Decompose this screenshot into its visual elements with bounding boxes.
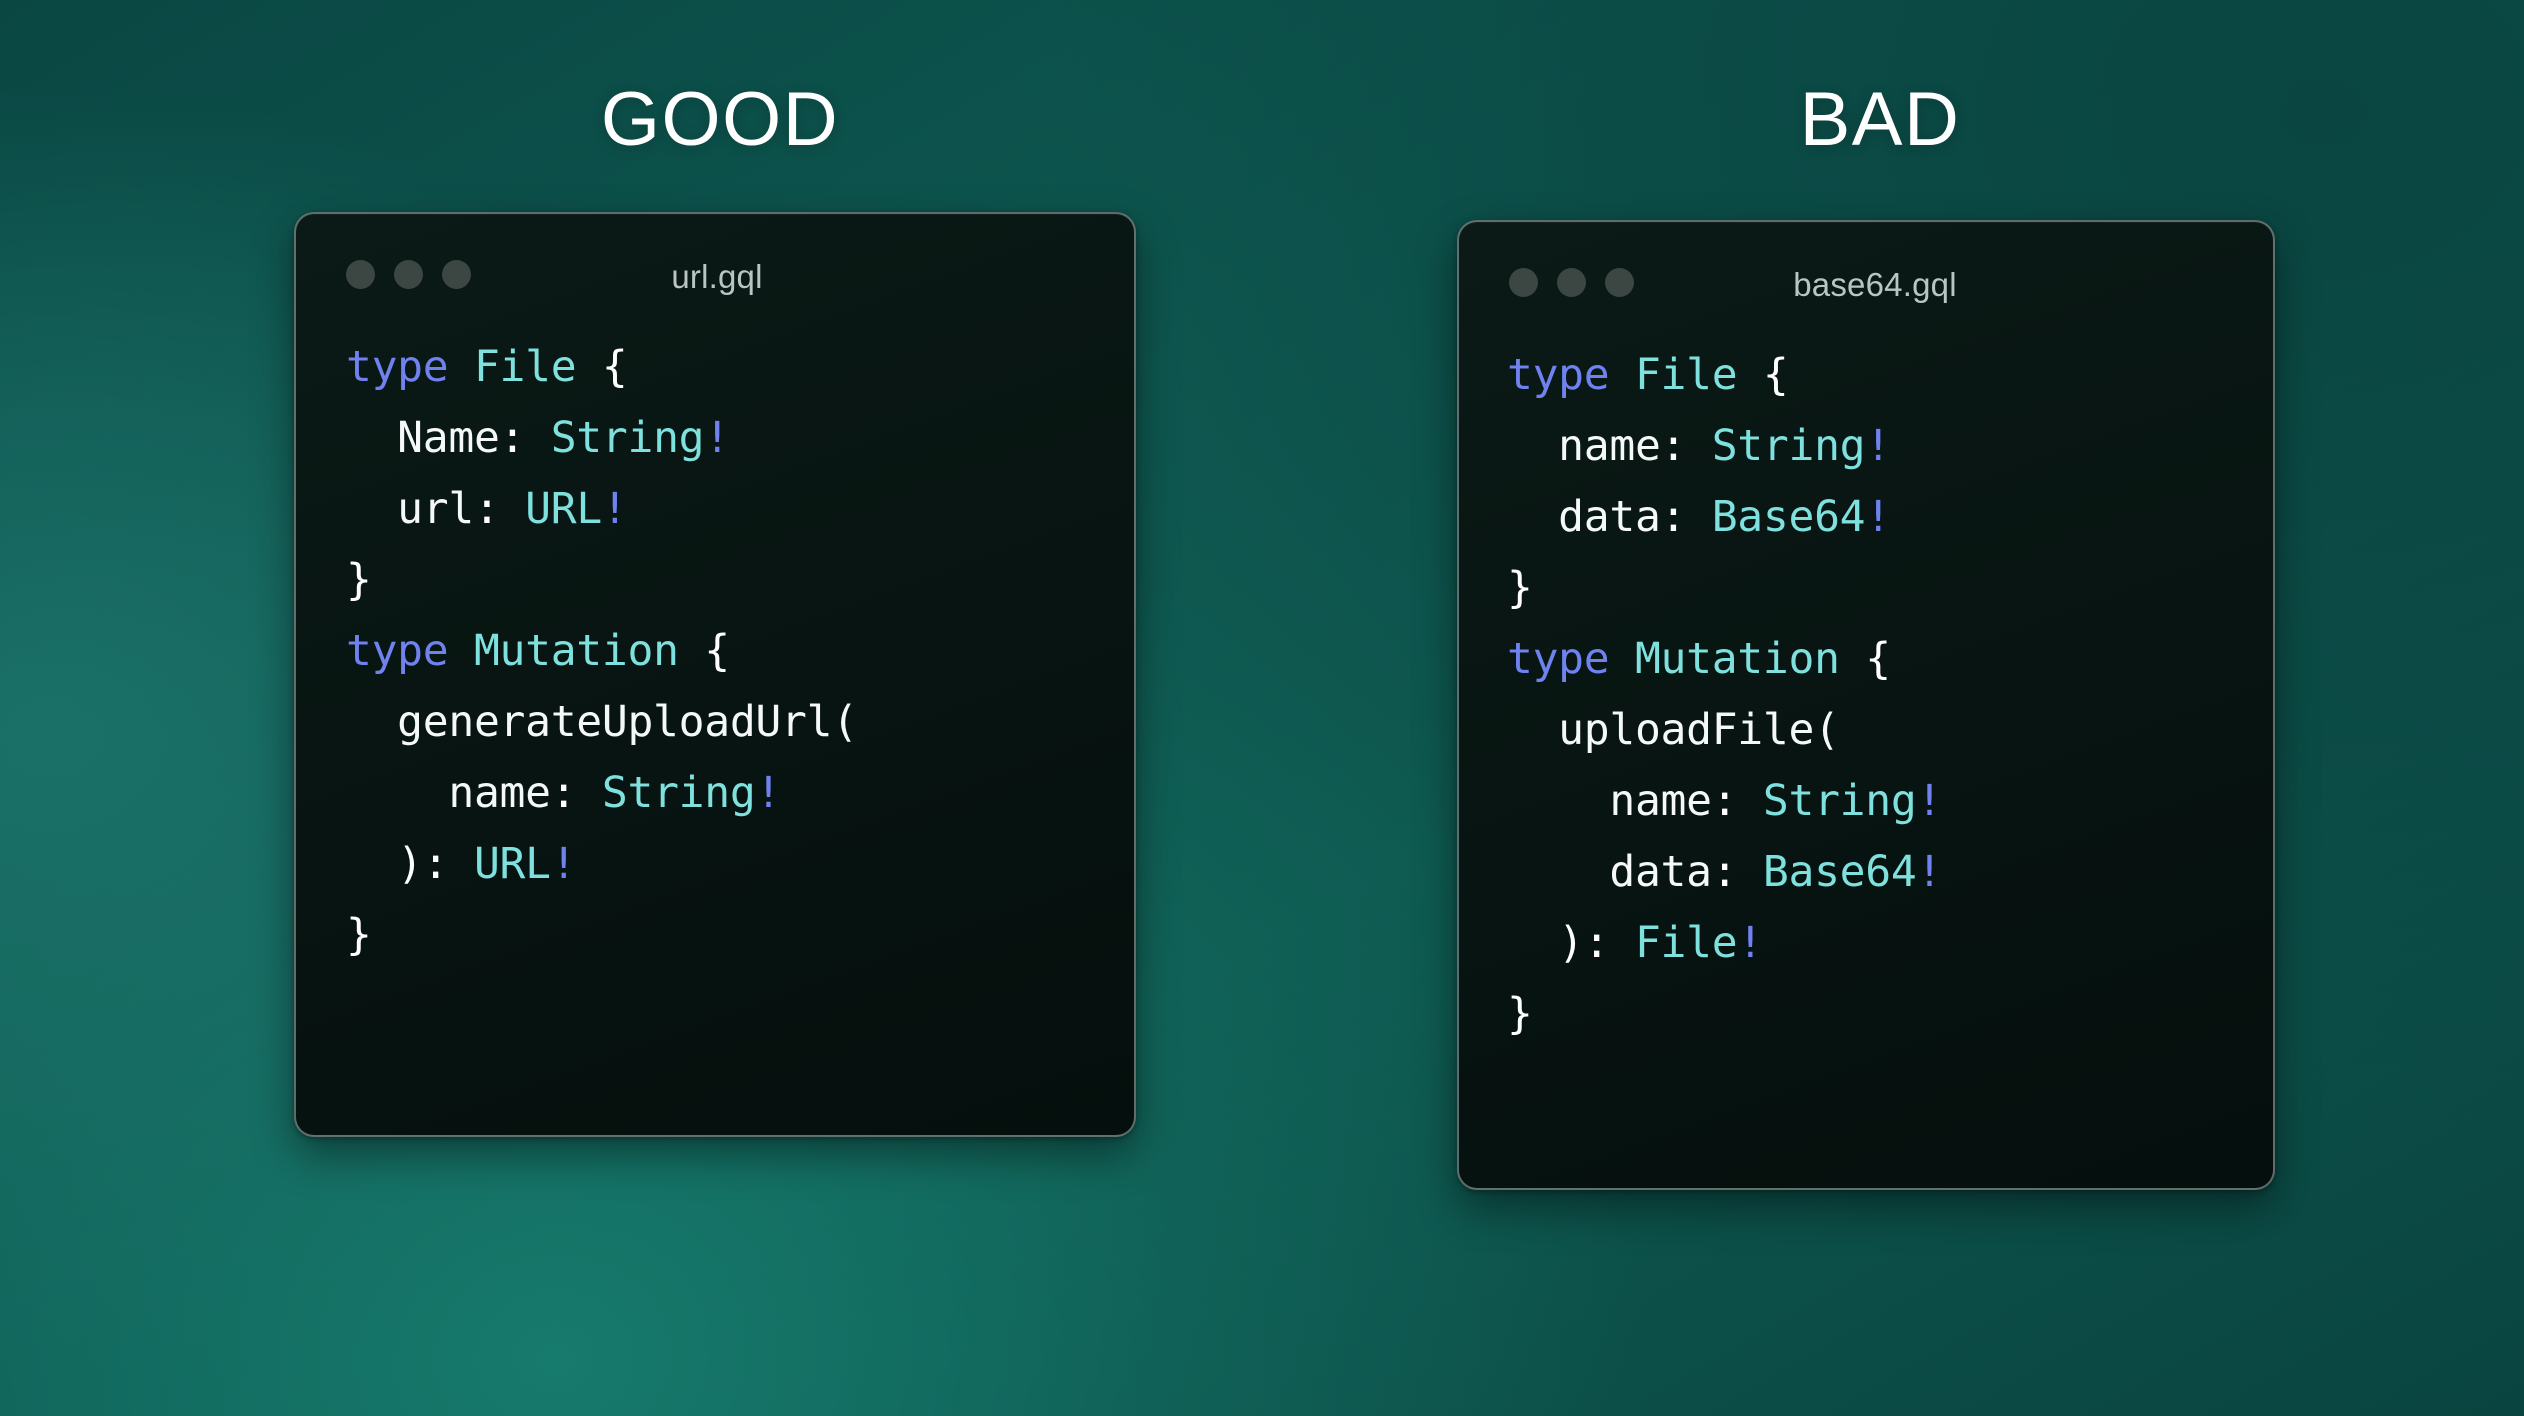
code-token-punc: } [1507,989,1533,1039]
code-token-field: url [346,484,474,534]
code-token-field: name [1507,421,1661,471]
code-token-bang: ! [551,839,577,889]
code-token-bang: ! [755,768,781,818]
code-token-field: name [346,768,551,818]
code-line: type File { [1507,340,2273,411]
code-line: type Mutation { [346,616,1134,687]
code-token-punc: { [1865,634,1891,684]
code-line: uploadFile( [1507,695,2273,766]
code-block-good: type File { Name: String! url: URL!}type… [296,318,1134,971]
code-token-punc: : [1712,847,1763,897]
code-token-type: Base64 [1712,492,1866,542]
code-token-punc: : [474,484,525,534]
code-token-punc: { [602,342,628,392]
comparison-slide: GOOD url.gql type File { Name: String! u… [0,0,2524,1416]
code-token-type: File [474,342,576,392]
code-line: name: String! [1507,411,2273,482]
column-heading-good: GOOD [280,82,1160,158]
code-token-punc [576,342,602,392]
code-block-bad: type File { name: String! data: Base64!}… [1459,326,2273,1050]
code-token-kw: type [346,626,448,676]
code-window-bad: base64.gql type File { name: String! dat… [1457,220,2275,1190]
code-token-bang: ! [602,484,628,534]
code-line: name: String! [346,758,1134,829]
code-token-type: String [602,768,756,818]
code-token-punc: { [704,626,730,676]
code-line: data: Base64! [1507,482,2273,553]
code-line: Name: String! [346,403,1134,474]
code-token-punc: : [551,768,602,818]
code-line: name: String! [1507,766,2273,837]
window-titlebar-good: url.gql [296,214,1134,318]
code-token-field: generateUploadUrl( [346,697,858,747]
code-token-type: Base64 [1763,847,1917,897]
code-token-bang: ! [1916,776,1942,826]
code-token-type: String [1763,776,1917,826]
code-token-type: String [1712,421,1866,471]
window-titlebar-bad: base64.gql [1459,222,2273,326]
code-token-punc: ): [1507,918,1635,968]
code-window-good: url.gql type File { Name: String! url: U… [294,212,1136,1137]
code-token-type: String [551,413,705,463]
code-token-type: URL [525,484,602,534]
code-token-punc: } [346,910,372,960]
code-token-punc: { [1763,350,1789,400]
code-line: } [1507,553,2273,624]
code-token-bang: ! [1865,421,1891,471]
code-line: url: URL! [346,474,1134,545]
code-line: type Mutation { [1507,624,2273,695]
code-token-punc [1609,350,1635,400]
code-token-bang: ! [1865,492,1891,542]
code-token-punc [679,626,705,676]
code-token-type: URL [474,839,551,889]
code-token-kw: type [1507,350,1609,400]
code-token-field: data [1507,847,1712,897]
window-filename-good: url.gql [296,258,1134,296]
column-heading-bad: BAD [1440,82,2320,158]
code-token-punc: : [500,413,551,463]
code-token-punc: ): [346,839,474,889]
code-token-field: name [1507,776,1712,826]
code-token-type: File [1635,350,1737,400]
code-token-type: File [1635,918,1737,968]
code-line: } [346,545,1134,616]
code-line: type File { [346,332,1134,403]
code-token-punc [1840,634,1866,684]
code-token-punc: : [1712,776,1763,826]
code-token-punc: } [1507,563,1533,613]
code-token-field: Name [346,413,500,463]
code-token-type: Mutation [1635,634,1840,684]
code-token-type: Mutation [474,626,679,676]
code-line: } [1507,979,2273,1050]
code-token-kw: type [346,342,448,392]
code-line: ): URL! [346,829,1134,900]
code-token-punc [1609,634,1635,684]
code-token-bang: ! [704,413,730,463]
code-line: generateUploadUrl( [346,687,1134,758]
code-line: ): File! [1507,908,2273,979]
code-token-kw: type [1507,634,1609,684]
code-token-field: uploadFile( [1507,705,1840,755]
code-token-punc: } [346,555,372,605]
code-token-punc [448,626,474,676]
code-token-punc: : [1661,421,1712,471]
code-token-field: data [1507,492,1661,542]
code-token-punc: : [1661,492,1712,542]
code-token-punc [1737,350,1763,400]
code-token-bang: ! [1737,918,1763,968]
window-filename-bad: base64.gql [1459,266,2273,304]
code-line: } [346,900,1134,971]
code-token-punc [448,342,474,392]
code-line: data: Base64! [1507,837,2273,908]
code-token-bang: ! [1916,847,1942,897]
